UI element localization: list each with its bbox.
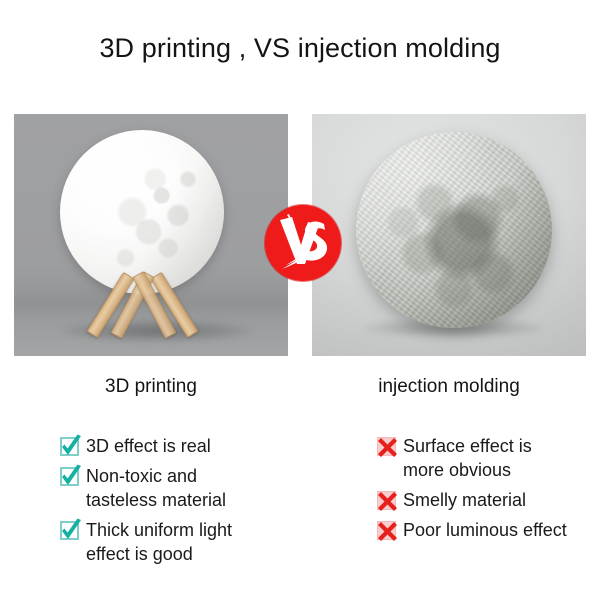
list-item: Surface effect is more obvious	[377, 434, 592, 482]
list-item-label: Surface effect is more obvious	[396, 434, 532, 482]
list-item: Poor luminous effect	[377, 518, 592, 542]
list-item: 3D effect is real	[60, 434, 310, 458]
feature-lists: 3D effect is real Non-toxic and tasteles…	[0, 434, 600, 594]
cross-icon	[377, 521, 396, 540]
vs-badge	[265, 205, 341, 281]
wooden-stand	[92, 276, 198, 334]
moon-rock-sphere	[356, 132, 552, 328]
check-icon	[60, 521, 79, 540]
list-item-label: Smelly material	[396, 488, 526, 512]
list-item-label: Thick uniform light effect is good	[79, 518, 232, 566]
cross-icon	[377, 491, 396, 510]
panel-captions: 3D printing injection molding	[0, 376, 600, 404]
vs-glyph-icon	[275, 212, 331, 274]
list-item: Smelly material	[377, 488, 592, 512]
moon-lamp-sphere	[60, 130, 224, 294]
check-icon	[60, 467, 79, 486]
check-icon	[60, 437, 79, 456]
list-item-label: 3D effect is real	[79, 434, 211, 458]
caption-injection-molding: injection molding	[312, 376, 586, 398]
page-title: 3D printing , VS injection molding	[0, 33, 600, 64]
list-item: Thick uniform light effect is good	[60, 518, 310, 566]
caption-3d-printing: 3D printing	[14, 376, 288, 398]
product-image-3d-printing	[14, 114, 288, 356]
cross-icon	[377, 437, 396, 456]
product-image-injection-molding	[312, 114, 586, 356]
list-item-label: Non-toxic and tasteless material	[79, 464, 226, 512]
list-item: Non-toxic and tasteless material	[60, 464, 310, 512]
pros-list: 3D effect is real Non-toxic and tasteles…	[60, 434, 310, 572]
list-item-label: Poor luminous effect	[396, 518, 567, 542]
cons-list: Surface effect is more obvious Smelly ma…	[377, 434, 592, 548]
